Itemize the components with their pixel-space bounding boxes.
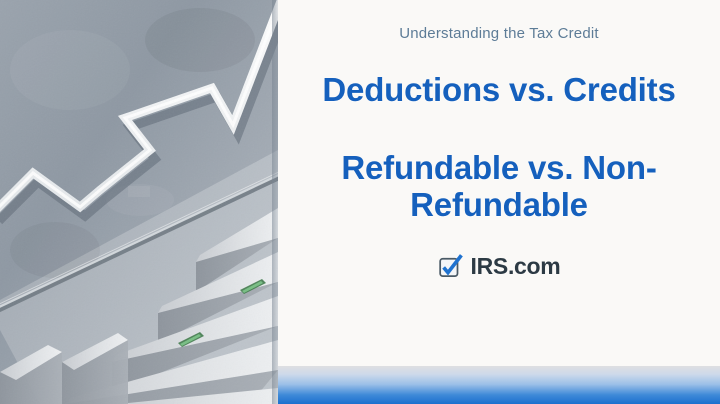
headline-primary: Deductions vs. Credits [322, 71, 675, 109]
eyebrow-text: Understanding the Tax Credit [399, 25, 599, 43]
stairway-photo [0, 0, 278, 404]
logo-text: IRS.com [471, 255, 561, 278]
headline-secondary: Refundable vs. Non-Refundable [278, 149, 720, 224]
irs-logo[interactable]: IRS.com [438, 254, 561, 280]
bottom-gradient-bar [278, 366, 720, 404]
checkbox-check-icon [438, 254, 464, 280]
slide-canvas: Understanding the Tax Credit Deductions … [0, 0, 720, 404]
content-panel: Understanding the Tax Credit Deductions … [278, 0, 720, 404]
stairway-photo-graphic [0, 0, 278, 404]
